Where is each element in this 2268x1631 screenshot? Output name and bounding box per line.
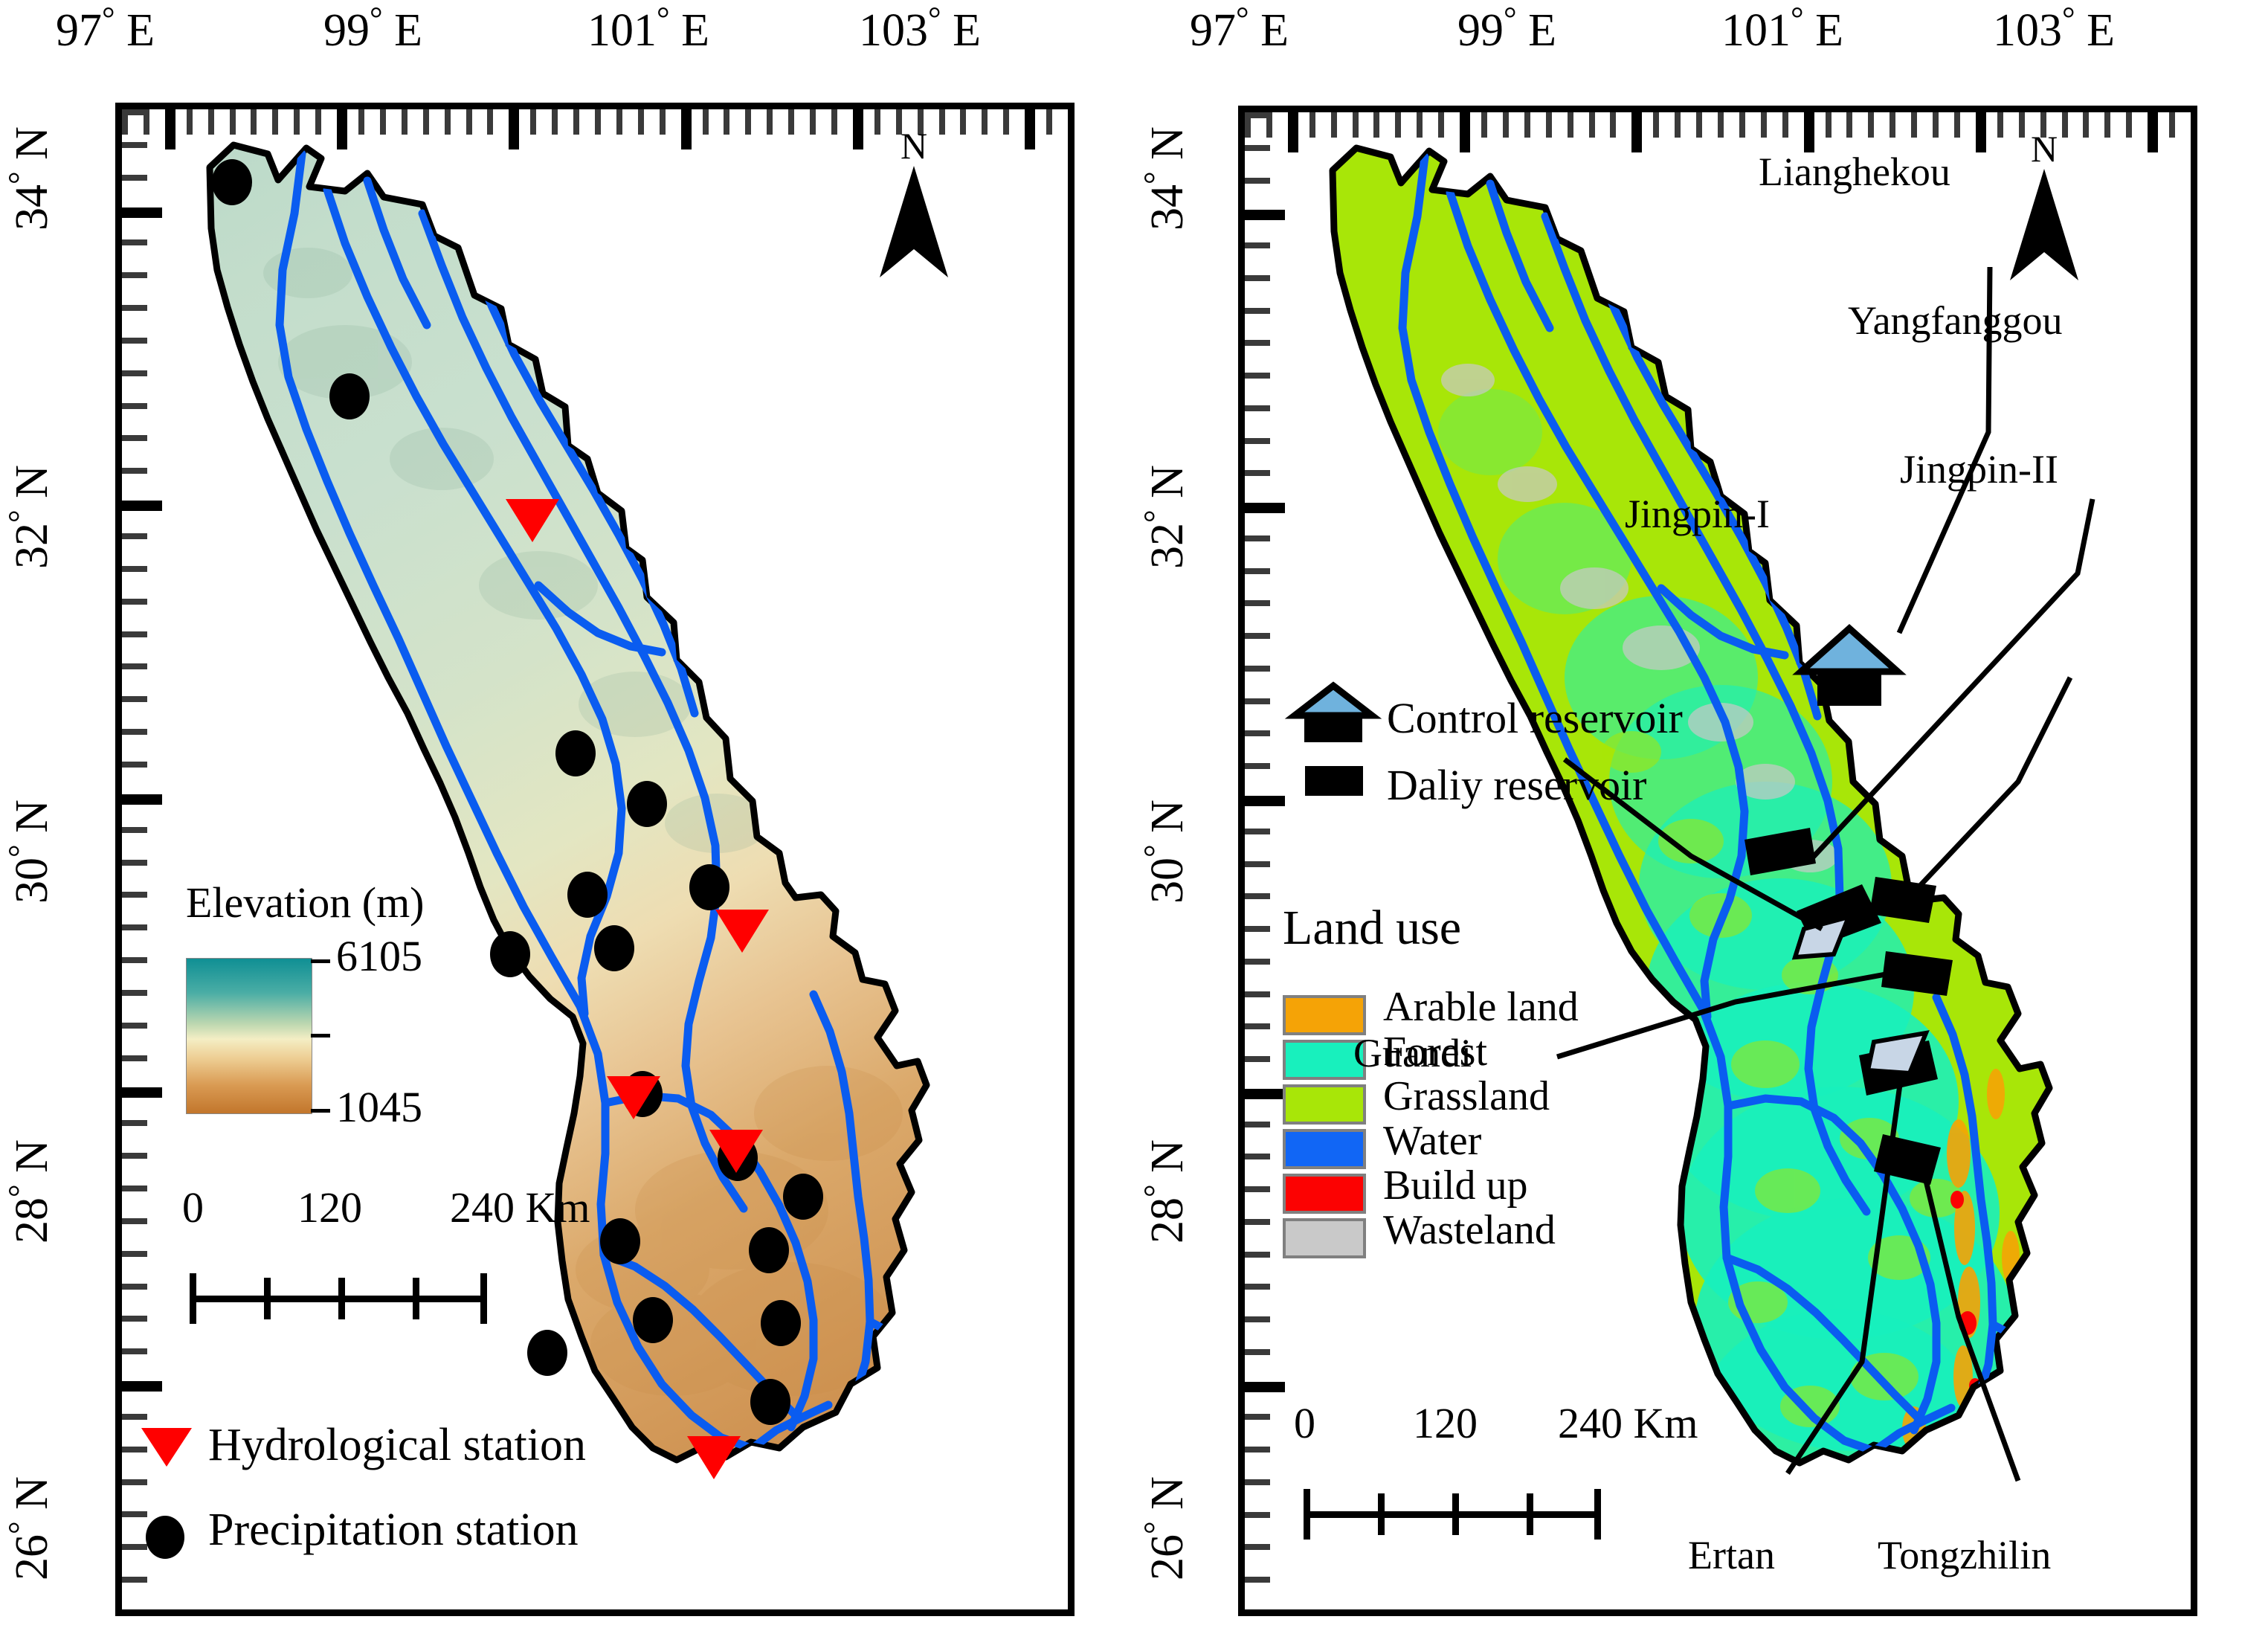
scalebar-left-tick-1 (264, 1278, 271, 1319)
scalebar-right-tick-4 (1594, 1489, 1601, 1540)
lon-tick-97-right: 97° E (1190, 4, 1289, 57)
hydrological-station-legend-icon (141, 1428, 192, 1467)
lon-tick-99: 99° E (323, 4, 422, 57)
control-reservoir-legend-label: Control reservoir (1387, 693, 1683, 743)
lon-tick-101: 101° E (587, 4, 709, 57)
lat-tick-26: 26° N (6, 1476, 59, 1580)
reservoir-label-ertan: Ertan (1688, 1532, 1775, 1578)
landuse-swatch-wasteland (1283, 1218, 1366, 1258)
reservoir-label-tongzhilin: Tongzhilin (1878, 1532, 2051, 1578)
daily-reservoir-legend-icon (1305, 766, 1363, 796)
scalebar-left-tick-2 (338, 1278, 345, 1319)
elevation-map-graphic (122, 109, 1068, 1609)
lon-tick-97: 97° E (56, 4, 155, 57)
scalebar-left-tick-4 (480, 1273, 487, 1324)
elevation-max-value: 6105 (336, 931, 422, 981)
scalebar-left-tick-0 (190, 1273, 196, 1324)
reservoir-label-lianghekou: Lianghekou (1759, 149, 1950, 195)
elevation-tick-low (311, 1109, 330, 1113)
reservoir-label-guandi-main: Guandi (1353, 1030, 1472, 1076)
control-reservoir-legend-icon (1294, 684, 1376, 744)
right-map-panel: 97° E 99° E 101° E 103° E 34° N 32° N 30… (1134, 0, 2268, 1631)
daily-reservoir-legend-label: Daliy reservoir (1387, 760, 1646, 810)
north-arrow-label: N (901, 124, 927, 167)
lon-tick-99-right: 99° E (1457, 4, 1556, 57)
lon-tick-101-right: 101° E (1721, 4, 1843, 57)
landuse-label-grassland: Grassland (1383, 1072, 1550, 1120)
reservoir-label-jingpin-i: Jingpin-I (1625, 491, 1770, 537)
north-arrow-right: N (1996, 127, 2093, 283)
scalebar-right-label-0: 0 (1294, 1398, 1315, 1448)
lat-tick-32-right: 32° N (1141, 465, 1194, 569)
reservoir-label-yangfanggou: Yangfanggou (1848, 297, 2063, 344)
left-map-frame: N Elevation (m) (115, 103, 1075, 1616)
landuse-label-arable: Arable land (1383, 983, 1579, 1031)
lat-tick-28: 28° N (6, 1139, 59, 1244)
landuse-swatch-grassland (1283, 1084, 1366, 1125)
elevation-min-value: 1045 (336, 1082, 422, 1132)
scalebar-right-label-120: 120 (1413, 1398, 1478, 1448)
hydrological-station-legend-label: Hydrological station (208, 1419, 586, 1472)
reservoir-label-jingpin-ii: Jingpin-II (1900, 446, 2058, 492)
landuse-swatch-buildup (1283, 1174, 1366, 1214)
elevation-colorbar (186, 958, 312, 1114)
scalebar-left-tick-3 (413, 1278, 419, 1319)
landuse-label-wasteland: Wasteland (1383, 1206, 1556, 1254)
left-map-panel: 97° E 99° E 101° E 103° E 34° N 32° N 30… (0, 0, 1134, 1631)
lat-tick-32: 32° N (6, 465, 59, 569)
landuse-swatch-arable (1283, 995, 1366, 1035)
landuse-legend-title: Land use (1283, 900, 1461, 956)
scalebar-left-label-240: 240 Km (450, 1183, 590, 1232)
elevation-tick-mid (311, 1034, 330, 1038)
scalebar-right-label-240: 240 Km (1558, 1398, 1698, 1448)
lon-tick-103: 103° E (859, 4, 981, 57)
elevation-tick-high (311, 959, 330, 963)
scalebar-left-label-0: 0 (182, 1183, 204, 1232)
lat-tick-34: 34° N (6, 126, 59, 231)
scalebar-left-label-120: 120 (297, 1183, 362, 1232)
landuse-label-buildup: Build up (1383, 1162, 1527, 1209)
lat-tick-30: 30° N (6, 800, 59, 904)
lon-tick-103-right: 103° E (1993, 4, 2115, 57)
north-arrow-label-right: N (2031, 127, 2058, 170)
scalebar-right-tick-1 (1378, 1493, 1385, 1535)
north-arrow-icon (880, 166, 948, 277)
lat-tick-28-right: 28° N (1141, 1139, 1194, 1244)
scalebar-right-tick-3 (1527, 1493, 1533, 1535)
scalebar-right-tick-2 (1452, 1493, 1459, 1535)
precipitation-station-legend-label: Precipitation station (208, 1504, 579, 1557)
north-arrow-left: N (866, 124, 962, 280)
north-arrow-icon-right (2010, 169, 2078, 280)
elevation-legend-title-main: Elevation (m) (186, 878, 425, 927)
lat-tick-30-right: 30° N (1141, 800, 1194, 904)
precipitation-station-legend-icon (146, 1516, 184, 1559)
landuse-swatch-water (1283, 1129, 1366, 1169)
scalebar-right-tick-0 (1304, 1489, 1310, 1540)
landuse-label-water: Water (1383, 1117, 1481, 1165)
lat-tick-34-right: 34° N (1141, 126, 1194, 231)
lat-tick-26-right: 26° N (1141, 1476, 1194, 1580)
